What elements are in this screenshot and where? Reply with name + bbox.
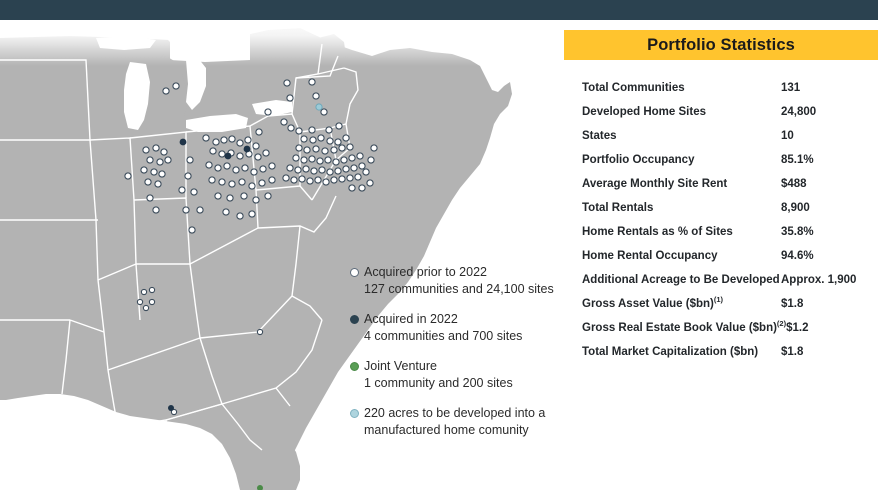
stat-value: 35.8% xyxy=(781,226,878,238)
legend-lightblue-dot-icon xyxy=(350,409,359,418)
map-sites-development xyxy=(316,104,322,110)
stat-value: 85.1% xyxy=(781,154,878,166)
table-row: Gross Real Estate Book Value ($bn)(2) $1… xyxy=(582,322,878,346)
stat-label: Average Monthly Site Rent xyxy=(582,178,781,190)
legend-open-circle-icon xyxy=(350,268,359,277)
table-row: Additional Acreage to Be Developed Appro… xyxy=(582,274,878,298)
legend-item-title: Acquired prior to 2022 xyxy=(364,264,487,280)
stat-label: Total Rentals xyxy=(582,202,781,214)
legend-item-development-acreage: 220 acres to be developed into a manufac… xyxy=(350,405,555,438)
stat-label: Gross Asset Value ($bn)(1) xyxy=(582,298,781,310)
stat-label: Portfolio Occupancy xyxy=(582,154,781,166)
legend-green-dot-icon xyxy=(350,362,359,371)
legend-item-joint-venture: Joint Venture 1 community and 200 sites xyxy=(350,358,555,391)
stat-value: Approx. 1,900 xyxy=(781,274,878,286)
legend-item-title: Acquired in 2022 xyxy=(364,311,458,327)
table-row: Gross Asset Value ($bn)(1) $1.8 xyxy=(582,298,878,322)
stat-value: $1.8 xyxy=(781,298,878,310)
stat-value: 94.6% xyxy=(781,250,878,262)
table-row: Total Communities 131 xyxy=(582,82,878,106)
legend-navy-dot-icon xyxy=(350,315,359,324)
stat-value: $488 xyxy=(781,178,878,190)
stat-value: 24,800 xyxy=(781,106,878,118)
us-map-panel: Acquired prior to 2022 127 communities a… xyxy=(0,20,556,490)
map-legend: Acquired prior to 2022 127 communities a… xyxy=(350,264,555,452)
stat-label: Developed Home Sites xyxy=(582,106,781,118)
table-row: Average Monthly Site Rent $488 xyxy=(582,178,878,202)
footnote-marker: (2) xyxy=(777,319,786,328)
stat-label: States xyxy=(582,130,781,142)
legend-item-subtitle: 1 community and 200 sites xyxy=(364,375,555,391)
legend-item-subtitle: 127 communities and 24,100 sites xyxy=(364,281,555,297)
stat-value: 131 xyxy=(781,82,878,94)
legend-item-subtitle: manufactured home comunity xyxy=(364,422,555,438)
stat-label: Gross Real Estate Book Value ($bn)(2) xyxy=(582,322,786,334)
table-row: Home Rentals as % of Sites 35.8% xyxy=(582,226,878,250)
stat-label: Total Market Capitalization ($bn) xyxy=(582,346,781,358)
legend-item-title: Joint Venture xyxy=(364,358,437,374)
presentation-slide: Acquired prior to 2022 127 communities a… xyxy=(0,0,878,490)
stat-label: Additional Acreage to Be Developed xyxy=(582,274,781,286)
legend-item-subtitle: 4 communities and 700 sites xyxy=(364,328,555,344)
stat-value: $1.2 xyxy=(786,322,878,334)
table-row: States 10 xyxy=(582,130,878,154)
table-row: Developed Home Sites 24,800 xyxy=(582,106,878,130)
statistics-table: Total Communities 131 Developed Home Sit… xyxy=(582,82,878,370)
stat-value: 8,900 xyxy=(781,202,878,214)
stat-value: $1.8 xyxy=(781,346,878,358)
stat-label: Home Rentals as % of Sites xyxy=(582,226,781,238)
legend-item-acquired-2022: Acquired in 2022 4 communities and 700 s… xyxy=(350,311,555,344)
table-row: Total Rentals 8,900 xyxy=(582,202,878,226)
footnote-marker: (1) xyxy=(714,295,723,304)
stat-value: 10 xyxy=(781,130,878,142)
table-row: Home Rental Occupancy 94.6% xyxy=(582,250,878,274)
portfolio-statistics-panel: Portfolio Statistics Total Communities 1… xyxy=(564,0,878,490)
stat-label: Home Rental Occupancy xyxy=(582,250,781,262)
table-row: Portfolio Occupancy 85.1% xyxy=(582,154,878,178)
legend-item-title: 220 acres to be developed into a xyxy=(364,405,545,421)
stat-label: Total Communities xyxy=(582,82,781,94)
panel-title: Portfolio Statistics xyxy=(647,36,795,55)
portfolio-statistics-banner: Portfolio Statistics xyxy=(564,30,878,60)
legend-item-prior-2022: Acquired prior to 2022 127 communities a… xyxy=(350,264,555,297)
table-row: Total Market Capitalization ($bn) $1.8 xyxy=(582,346,878,370)
